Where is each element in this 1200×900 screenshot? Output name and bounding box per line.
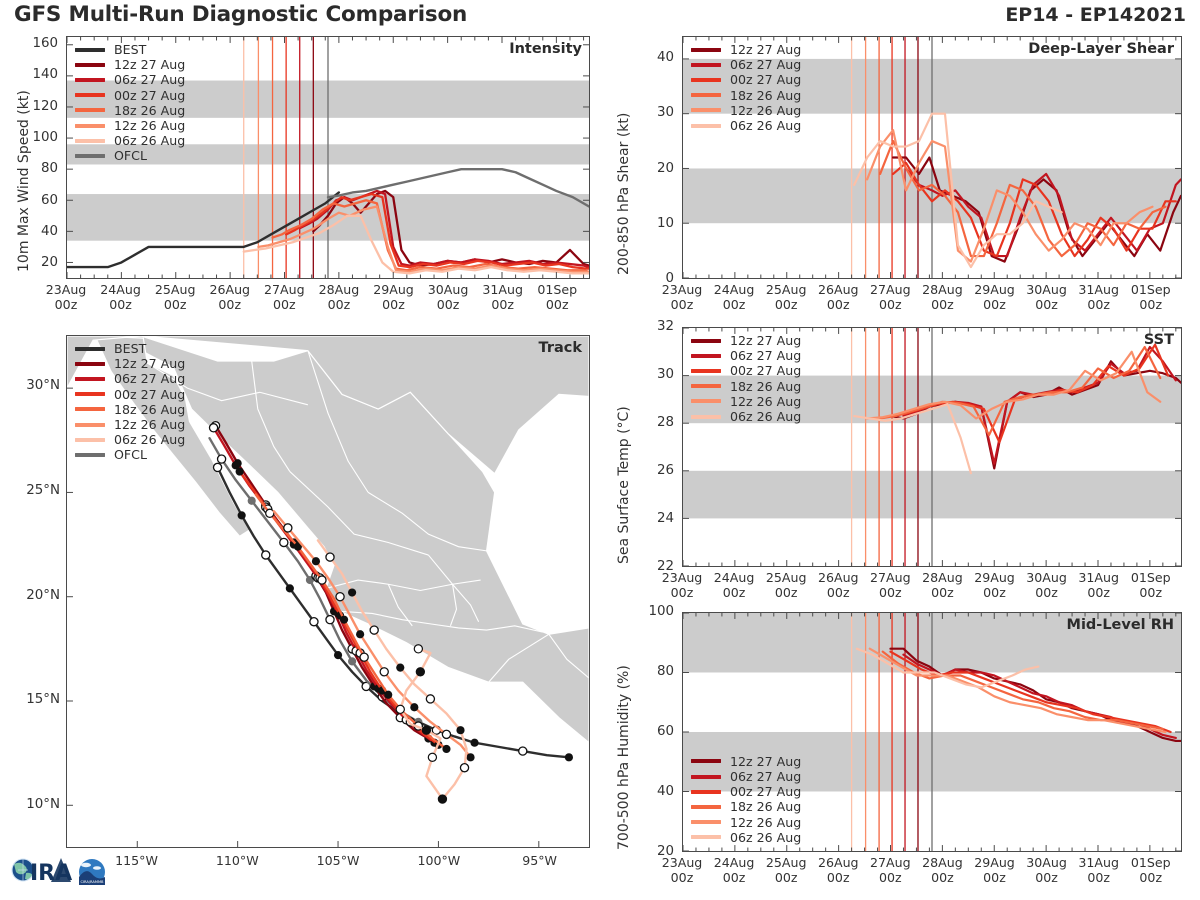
shear-y-axis-label: 200-850 hPa Shear (kt) xyxy=(616,113,632,275)
x-tick-date: 27Aug xyxy=(264,282,305,297)
track-time-marker xyxy=(360,653,368,661)
legend-item: 12z 27 Aug xyxy=(75,356,185,371)
track-time-marker xyxy=(396,705,404,713)
legend-swatch-icon xyxy=(691,124,721,128)
intensity-legend: BEST12z 27 Aug06z 27 Aug00z 27 Aug18z 26… xyxy=(75,42,185,164)
storm-id: EP14 - EP142021 xyxy=(1005,4,1186,26)
legend-swatch-icon xyxy=(75,423,105,427)
x-tick-hour: 00z xyxy=(931,870,954,885)
track-time-marker xyxy=(312,557,320,565)
longitude-tick-label: 95°W xyxy=(500,854,580,869)
x-tick-label: 01Sep00z xyxy=(1115,856,1187,885)
track-time-marker xyxy=(209,424,217,432)
latitude-tick-label: 20°N xyxy=(6,588,60,603)
legend-item: 12z 26 Aug xyxy=(75,417,185,432)
legend-swatch-icon xyxy=(691,93,721,97)
legend-label: 12z 27 Aug xyxy=(730,333,801,348)
sst-panel: SST 12z 27 Aug06z 27 Aug00z 27 Aug18z 26… xyxy=(682,327,1182,567)
x-tick-date: 28Aug xyxy=(922,570,963,585)
legend-swatch-icon xyxy=(691,78,721,82)
x-tick-date: 30Aug xyxy=(1026,855,1067,870)
track-time-marker xyxy=(238,511,246,519)
track-time-marker xyxy=(370,626,378,634)
sst-legend: 12z 27 Aug06z 27 Aug00z 27 Aug18z 26 Aug… xyxy=(691,333,801,424)
y-tick-label: 120 xyxy=(12,99,58,114)
track-time-marker xyxy=(426,695,434,703)
legend-label: 12z 27 Aug xyxy=(730,754,801,769)
legend-swatch-icon xyxy=(691,775,721,779)
y-tick-label: 24 xyxy=(628,511,674,526)
legend-label: 00z 27 Aug xyxy=(114,387,185,402)
legend-swatch-icon xyxy=(75,347,105,351)
track-time-marker xyxy=(326,553,334,561)
track-time-marker xyxy=(380,668,388,676)
x-tick-hour: 00z xyxy=(827,870,850,885)
track-time-marker xyxy=(442,730,450,738)
legend-label: 00z 27 Aug xyxy=(114,88,185,103)
legend-swatch-icon xyxy=(75,453,105,457)
track-time-marker xyxy=(218,455,226,463)
latitude-tick-label: 15°N xyxy=(6,692,60,707)
legend-item: OFCL xyxy=(75,148,185,163)
legend-item: 00z 27 Aug xyxy=(691,363,801,378)
svg-text:CIRA/RAMMB: CIRA/RAMMB xyxy=(80,880,104,884)
page-title: GFS Multi-Run Diagnostic Comparison xyxy=(14,2,467,27)
legend-swatch-icon xyxy=(75,63,105,67)
x-tick-hour: 00z xyxy=(1087,297,1110,312)
track-time-marker xyxy=(286,584,294,592)
x-tick-date: 27Aug xyxy=(870,855,911,870)
track-time-marker xyxy=(396,664,404,672)
y-tick-label: 26 xyxy=(628,463,674,478)
track-time-marker xyxy=(334,651,342,659)
x-tick-hour: 00z xyxy=(671,297,694,312)
y-tick-label: 80 xyxy=(628,664,674,679)
x-tick-hour: 00z xyxy=(879,585,902,600)
shear-title: Deep-Layer Shear xyxy=(1028,41,1174,57)
track-time-marker xyxy=(410,703,418,711)
intensity-y-axis-label: 10m Max Wind Speed (kt) xyxy=(16,90,32,272)
x-tick-hour: 00z xyxy=(931,585,954,600)
legend-swatch-icon xyxy=(75,377,105,381)
x-tick-date: 23Aug xyxy=(46,282,87,297)
y-tick-label: 40 xyxy=(12,224,58,239)
x-tick-hour: 00z xyxy=(1139,585,1162,600)
legend-swatch-icon xyxy=(75,93,105,97)
track-time-marker xyxy=(519,747,527,755)
y-tick-label: 20 xyxy=(12,255,58,270)
legend-swatch-icon xyxy=(691,399,721,403)
shear-legend: 12z 27 Aug06z 27 Aug00z 27 Aug18z 26 Aug… xyxy=(691,42,801,133)
x-tick-hour: 00z xyxy=(1035,870,1058,885)
x-tick-date: 25Aug xyxy=(766,570,807,585)
legend-item: 06z 27 Aug xyxy=(691,348,801,363)
legend-swatch-icon xyxy=(691,820,721,824)
legend-item: 06z 27 Aug xyxy=(691,57,801,72)
x-tick-hour: 00z xyxy=(1139,297,1162,312)
x-tick-date: 24Aug xyxy=(714,282,755,297)
intensity-panel: Intensity BEST12z 27 Aug06z 27 Aug00z 27… xyxy=(66,36,590,279)
x-tick-hour: 00z xyxy=(775,297,798,312)
x-tick-hour: 00z xyxy=(1139,870,1162,885)
x-tick-date: 24Aug xyxy=(714,855,755,870)
x-tick-date: 28Aug xyxy=(922,282,963,297)
legend-item: 06z 27 Aug xyxy=(691,769,801,784)
y-tick-label: 30 xyxy=(628,105,674,120)
legend-label: 06z 26 Aug xyxy=(730,409,801,424)
track-time-marker xyxy=(456,726,464,734)
legend-label: 18z 26 Aug xyxy=(114,402,185,417)
legend-item: 00z 27 Aug xyxy=(691,784,801,799)
legend-swatch-icon xyxy=(691,108,721,112)
track-time-marker xyxy=(348,588,356,596)
legend-item: 06z 26 Aug xyxy=(691,409,801,424)
track-time-marker xyxy=(340,616,348,624)
legend-label: 18z 26 Aug xyxy=(730,799,801,814)
track-time-marker xyxy=(236,467,244,475)
legend-item: 12z 27 Aug xyxy=(691,42,801,57)
legend-swatch-icon xyxy=(75,124,105,128)
track-time-marker xyxy=(213,463,221,471)
legend-item: BEST xyxy=(75,341,185,356)
x-tick-date: 23Aug xyxy=(662,855,703,870)
legend-swatch-icon xyxy=(75,139,105,143)
x-tick-hour: 00z xyxy=(983,585,1006,600)
legend-item: 00z 27 Aug xyxy=(75,88,185,103)
track-time-marker xyxy=(470,739,478,747)
x-tick-hour: 00z xyxy=(775,870,798,885)
x-tick-date: 01Sep xyxy=(1131,855,1171,870)
x-tick-date: 31Aug xyxy=(1078,855,1119,870)
legend-item: 00z 27 Aug xyxy=(691,72,801,87)
x-tick-date: 31Aug xyxy=(1078,282,1119,297)
legend-item: 00z 27 Aug xyxy=(75,387,185,402)
legend-label: 06z 26 Aug xyxy=(730,118,801,133)
x-tick-date: 31Aug xyxy=(482,282,523,297)
legend-label: OFCL xyxy=(114,148,147,163)
legend-item: BEST xyxy=(75,42,185,57)
y-tick-label: 60 xyxy=(628,724,674,739)
legend-item: 18z 26 Aug xyxy=(75,402,185,417)
legend-label: 12z 26 Aug xyxy=(730,815,801,830)
x-tick-hour: 00z xyxy=(218,297,241,312)
legend-label: BEST xyxy=(114,42,146,57)
intensity-title: Intensity xyxy=(509,41,582,57)
legend-label: 00z 27 Aug xyxy=(730,72,801,87)
legend-swatch-icon xyxy=(75,78,105,82)
y-tick-label: 100 xyxy=(628,604,674,619)
legend-item: 06z 27 Aug xyxy=(75,371,185,386)
rh-legend: 12z 27 Aug06z 27 Aug00z 27 Aug18z 26 Aug… xyxy=(691,754,801,845)
y-tick-label: 10 xyxy=(628,216,674,231)
x-tick-date: 27Aug xyxy=(870,570,911,585)
legend-label: 06z 26 Aug xyxy=(730,830,801,845)
legend-swatch-icon xyxy=(691,369,721,373)
legend-swatch-icon xyxy=(691,805,721,809)
legend-item: 12z 26 Aug xyxy=(691,394,801,409)
legend-swatch-icon xyxy=(691,48,721,52)
x-tick-date: 29Aug xyxy=(974,570,1015,585)
x-tick-date: 23Aug xyxy=(662,570,703,585)
y-tick-label: 140 xyxy=(12,67,58,82)
x-tick-date: 26Aug xyxy=(818,282,859,297)
legend-item: 12z 26 Aug xyxy=(691,815,801,830)
legend-label: 06z 27 Aug xyxy=(730,348,801,363)
legend-label: 06z 27 Aug xyxy=(114,371,185,386)
x-tick-date: 25Aug xyxy=(766,282,807,297)
y-tick-label: 28 xyxy=(628,415,674,430)
legend-label: 12z 26 Aug xyxy=(114,118,185,133)
x-tick-date: 26Aug xyxy=(818,570,859,585)
x-tick-hour: 00z xyxy=(671,585,694,600)
x-tick-hour: 00z xyxy=(879,297,902,312)
x-tick-hour: 00z xyxy=(491,297,514,312)
rh-title: Mid-Level RH xyxy=(1067,617,1174,633)
longitude-tick-label: 110°W xyxy=(197,854,277,869)
x-tick-hour: 00z xyxy=(983,297,1006,312)
x-tick-hour: 00z xyxy=(546,297,569,312)
legend-swatch-icon xyxy=(691,759,721,763)
track-time-marker xyxy=(318,576,326,584)
x-tick-date: 29Aug xyxy=(373,282,414,297)
x-tick-hour: 00z xyxy=(55,297,78,312)
cira-logo: IRA CIRA/RAMMB xyxy=(4,846,114,896)
x-tick-hour: 00z xyxy=(827,585,850,600)
legend-swatch-icon xyxy=(691,354,721,358)
x-tick-date: 27Aug xyxy=(870,282,911,297)
track-time-marker xyxy=(422,726,430,734)
x-tick-date: 28Aug xyxy=(319,282,360,297)
x-tick-hour: 00z xyxy=(983,870,1006,885)
legend-label: BEST xyxy=(114,341,146,356)
legend-label: 06z 26 Aug xyxy=(114,432,185,447)
track-title: Track xyxy=(539,340,582,356)
track-time-marker xyxy=(266,509,274,517)
x-tick-date: 26Aug xyxy=(818,855,859,870)
x-tick-hour: 00z xyxy=(437,297,460,312)
x-tick-hour: 00z xyxy=(1087,870,1110,885)
track-time-marker xyxy=(348,657,356,665)
legend-swatch-icon xyxy=(75,407,105,411)
legend-swatch-icon xyxy=(691,415,721,419)
legend-item: 12z 26 Aug xyxy=(691,103,801,118)
track-legend: BEST12z 27 Aug06z 27 Aug00z 27 Aug18z 26… xyxy=(75,341,185,463)
legend-item: 12z 26 Aug xyxy=(75,118,185,133)
legend-label: 12z 27 Aug xyxy=(114,57,185,72)
track-time-marker xyxy=(466,753,474,761)
x-tick-date: 23Aug xyxy=(662,282,703,297)
x-tick-hour: 00z xyxy=(1087,585,1110,600)
y-tick-label: 80 xyxy=(12,161,58,176)
x-tick-hour: 00z xyxy=(671,870,694,885)
x-tick-date: 31Aug xyxy=(1078,570,1119,585)
legend-item: 18z 26 Aug xyxy=(691,88,801,103)
legend-swatch-icon xyxy=(75,108,105,112)
x-tick-date: 25Aug xyxy=(766,855,807,870)
y-tick-label: 160 xyxy=(12,36,58,51)
track-time-marker xyxy=(442,745,450,753)
track-panel: Track BEST12z 27 Aug06z 27 Aug00z 27 Aug… xyxy=(66,335,590,848)
legend-swatch-icon xyxy=(75,392,105,396)
legend-label: 06z 27 Aug xyxy=(730,769,801,784)
legend-item: OFCL xyxy=(75,447,185,462)
y-tick-label: 60 xyxy=(12,193,58,208)
x-tick-hour: 00z xyxy=(723,870,746,885)
rh-y-axis-label: 700-500 hPa Humidity (%) xyxy=(616,665,632,850)
track-time-marker xyxy=(310,618,318,626)
x-tick-hour: 00z xyxy=(1035,297,1058,312)
track-time-marker xyxy=(280,538,288,546)
x-tick-hour: 00z xyxy=(328,297,351,312)
x-tick-date: 26Aug xyxy=(209,282,250,297)
track-time-marker xyxy=(414,645,422,653)
legend-swatch-icon xyxy=(75,154,105,158)
track-time-marker xyxy=(336,593,344,601)
longitude-tick-label: 105°W xyxy=(298,854,378,869)
legend-label: 06z 26 Aug xyxy=(114,133,185,148)
legend-item: 12z 27 Aug xyxy=(691,333,801,348)
x-tick-hour: 00z xyxy=(1035,585,1058,600)
legend-label: 00z 27 Aug xyxy=(730,363,801,378)
x-tick-hour: 00z xyxy=(723,297,746,312)
legend-label: 00z 27 Aug xyxy=(730,784,801,799)
legend-swatch-icon xyxy=(75,48,105,52)
legend-swatch-icon xyxy=(691,835,721,839)
legend-swatch-icon xyxy=(691,790,721,794)
x-tick-date: 24Aug xyxy=(714,570,755,585)
legend-label: 18z 26 Aug xyxy=(730,88,801,103)
legend-swatch-icon xyxy=(75,438,105,442)
x-tick-hour: 00z xyxy=(879,870,902,885)
legend-item: 06z 27 Aug xyxy=(75,72,185,87)
legend-item: 18z 26 Aug xyxy=(691,799,801,814)
legend-label: 18z 26 Aug xyxy=(114,103,185,118)
x-tick-hour: 00z xyxy=(109,297,132,312)
legend-swatch-icon xyxy=(75,362,105,366)
track-time-marker xyxy=(356,630,364,638)
legend-label: 12z 27 Aug xyxy=(114,356,185,371)
x-tick-hour: 00z xyxy=(775,585,798,600)
legend-swatch-icon xyxy=(691,339,721,343)
x-tick-date: 30Aug xyxy=(1026,570,1067,585)
x-tick-date: 01Sep xyxy=(1131,570,1171,585)
y-tick-label: 100 xyxy=(12,130,58,145)
track-time-marker xyxy=(438,795,446,803)
legend-item: 18z 26 Aug xyxy=(75,103,185,118)
track-time-marker xyxy=(384,691,392,699)
legend-item: 18z 26 Aug xyxy=(691,379,801,394)
x-tick-hour: 00z xyxy=(382,297,405,312)
x-tick-label: 01Sep00z xyxy=(1115,571,1187,600)
legend-label: 06z 27 Aug xyxy=(730,57,801,72)
legend-item: 06z 26 Aug xyxy=(691,830,801,845)
track-time-marker xyxy=(284,524,292,532)
legend-label: 12z 26 Aug xyxy=(730,103,801,118)
y-tick-label: 40 xyxy=(628,50,674,65)
x-tick-date: 24Aug xyxy=(100,282,141,297)
latitude-tick-label: 30°N xyxy=(6,378,60,393)
y-tick-label: 40 xyxy=(628,784,674,799)
track-time-marker xyxy=(428,753,436,761)
rh-panel: Mid-Level RH 12z 27 Aug06z 27 Aug00z 27 … xyxy=(682,612,1182,852)
legend-item: 12z 27 Aug xyxy=(75,57,185,72)
x-tick-date: 29Aug xyxy=(974,855,1015,870)
track-time-marker xyxy=(565,753,573,761)
track-time-marker xyxy=(248,497,256,505)
legend-label: OFCL xyxy=(114,447,147,462)
y-tick-label: 20 xyxy=(628,161,674,176)
legend-swatch-icon xyxy=(691,384,721,388)
y-tick-label: 32 xyxy=(628,319,674,334)
track-time-marker xyxy=(326,616,334,624)
legend-label: 06z 27 Aug xyxy=(114,72,185,87)
x-tick-date: 29Aug xyxy=(974,282,1015,297)
legend-item: 12z 27 Aug xyxy=(691,754,801,769)
legend-label: 12z 26 Aug xyxy=(114,417,185,432)
sst-title: SST xyxy=(1144,332,1174,348)
x-tick-date: 01Sep xyxy=(1131,282,1171,297)
legend-item: 06z 26 Aug xyxy=(75,432,185,447)
x-tick-hour: 00z xyxy=(723,585,746,600)
x-tick-date: 30Aug xyxy=(428,282,469,297)
track-time-marker xyxy=(262,551,270,559)
shear-panel: Deep-Layer Shear 12z 27 Aug06z 27 Aug00z… xyxy=(682,36,1182,279)
legend-label: 12z 27 Aug xyxy=(730,42,801,57)
legend-item: 06z 26 Aug xyxy=(691,118,801,133)
legend-item: 06z 26 Aug xyxy=(75,133,185,148)
latitude-tick-label: 25°N xyxy=(6,483,60,498)
x-tick-date: 28Aug xyxy=(922,855,963,870)
x-tick-date: 01Sep xyxy=(537,282,577,297)
x-tick-label: 01Sep00z xyxy=(1115,283,1187,312)
y-tick-label: 30 xyxy=(628,367,674,382)
legend-swatch-icon xyxy=(691,63,721,67)
track-time-marker xyxy=(416,668,424,676)
x-tick-hour: 00z xyxy=(931,297,954,312)
x-tick-date: 25Aug xyxy=(155,282,196,297)
latitude-tick-label: 10°N xyxy=(6,797,60,812)
x-tick-hour: 00z xyxy=(273,297,296,312)
longitude-tick-label: 100°W xyxy=(399,854,479,869)
track-time-marker xyxy=(460,764,468,772)
x-tick-label: 01Sep00z xyxy=(521,283,593,312)
legend-label: 12z 26 Aug xyxy=(730,394,801,409)
x-tick-hour: 00z xyxy=(827,297,850,312)
legend-label: 18z 26 Aug xyxy=(730,379,801,394)
x-tick-date: 30Aug xyxy=(1026,282,1067,297)
x-tick-hour: 00z xyxy=(164,297,187,312)
